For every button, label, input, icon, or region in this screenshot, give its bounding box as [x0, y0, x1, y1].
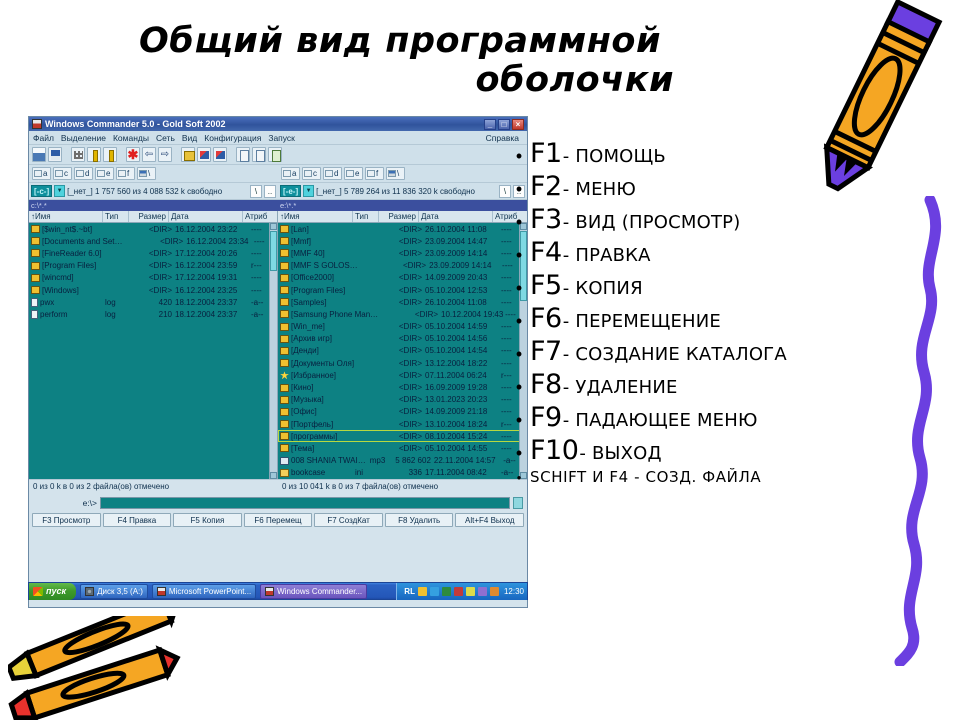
table-row[interactable]: bookcaseini33617.11.2004 08:42-a--: [278, 467, 527, 479]
file-icon: [31, 298, 38, 307]
fkey-list-item: •F1- помощь: [508, 138, 938, 169]
cell-name: [Documents and Settings]: [42, 237, 124, 246]
fkey-name: F5: [530, 270, 562, 301]
drive-button-d-right[interactable]: d: [323, 167, 342, 180]
crayon-pair-red-green: [8, 616, 198, 720]
drive-label: e: [106, 169, 110, 178]
hdd-icon: [97, 170, 105, 177]
drive-button-network-left[interactable]: \: [137, 167, 156, 180]
list-icon[interactable]: [48, 147, 62, 162]
fkey-description: - выход: [579, 443, 661, 464]
doc-green-icon[interactable]: [268, 147, 282, 162]
cell-name: [Samples]: [291, 298, 355, 307]
menu-item-start[interactable]: Запуск: [268, 133, 295, 143]
cell-size: <DIR>: [381, 395, 425, 404]
drive-label: \: [397, 169, 399, 178]
table-row[interactable]: [MMF 40]<DIR>23.09.2009 14:14----: [278, 247, 527, 259]
scrollbar-left[interactable]: [269, 223, 277, 479]
taskbar-item-wincmd[interactable]: Windows Commander...: [260, 584, 367, 599]
bullet-icon: •: [508, 279, 530, 297]
fkey-reference-list: •F1- помощь•F2- меню•F3- вид (просмотр)•…: [508, 138, 938, 488]
table-row[interactable]: [Офис]<DIR>14.09.2009 21:18----: [278, 406, 527, 418]
fkey-list-item: •F4- правка: [508, 237, 938, 268]
folder-icon: [31, 237, 40, 245]
folder-yellow-icon[interactable]: [181, 147, 195, 162]
scroll-up-arrow-left[interactable]: [270, 223, 277, 230]
cell-size: <DIR>: [131, 261, 175, 270]
file-pane-left[interactable]: ↑Имя Тип Размер Дата Атриб [$win_nt$.~bt…: [29, 211, 278, 479]
hdd-icon: [76, 170, 84, 177]
folder-icon: [31, 286, 40, 294]
ini-icon: [280, 469, 289, 477]
download-icon[interactable]: [430, 587, 439, 596]
restore-button[interactable]: □: [498, 119, 510, 130]
fkey-button-f3[interactable]: F3 Просмотр: [32, 513, 101, 527]
fkey-list-item: •F5- копия: [508, 270, 938, 301]
network-icon: [388, 170, 396, 177]
column-header-date[interactable]: Дата: [419, 211, 493, 222]
fkey-list-item: •F2- меню: [508, 171, 938, 202]
fkey-description: - копия: [563, 278, 643, 299]
menu-item-view[interactable]: Вид: [182, 133, 197, 143]
drive-label: f: [376, 169, 378, 178]
folder-icon: [31, 262, 40, 270]
table-row[interactable]: [wincmd]<DIR>17.12.2004 19:31----: [29, 272, 277, 284]
floppy-icon: [85, 587, 94, 596]
network-icon: [139, 170, 147, 177]
cell-date: 16.12.2004 23:25: [175, 286, 251, 295]
folder-icon: [31, 225, 40, 233]
cell-date: 07.11.2004 06:24: [425, 371, 501, 380]
cell-name: [Кино]: [291, 383, 355, 392]
menu-bar: Файл Выделение Команды Сеть Вид Конфигур…: [29, 131, 527, 145]
cell-date: 16.09.2009 19:28: [425, 383, 501, 392]
fkey-name: F4: [530, 237, 562, 268]
bullet-icon: •: [508, 213, 530, 231]
cell-date: 17.12.2004 20:26: [175, 249, 251, 258]
cell-size: <DIR>: [131, 273, 175, 282]
cell-name: [Портфель]: [291, 420, 355, 429]
table-row[interactable]: [Кино]<DIR>16.09.2009 19:28----: [278, 381, 527, 393]
drive-label: d: [334, 169, 338, 178]
title-line-1: Общий вид программной: [139, 21, 661, 61]
cell-name: [Program Files]: [291, 286, 355, 295]
drive-button-f-right[interactable]: f: [365, 167, 384, 180]
restore-icon: □: [502, 120, 507, 129]
toolbar-separator-3: [174, 147, 179, 162]
table-row[interactable]: [Mmf]<DIR>23.09.2004 14:47----: [278, 235, 527, 247]
bullet-icon: •: [508, 444, 530, 462]
cell-size: <DIR>: [381, 286, 425, 295]
root-button-left[interactable]: \: [250, 185, 262, 198]
chevron-down-icon-right[interactable]: ▼: [303, 185, 314, 197]
start-button-label: пуск: [46, 586, 66, 596]
table-row[interactable]: performlog21018.12.2004 23:37-a--: [29, 308, 277, 320]
table-row[interactable]: [Win_me]<DIR>05.10.2004 14:59----: [278, 321, 527, 333]
drive-button-c-right[interactable]: c: [302, 167, 321, 180]
cell-date: 16.12.2004 23:34: [186, 237, 254, 246]
table-row[interactable]: [Program Files]<DIR>16.12.2004 23:59r---: [29, 260, 277, 272]
drive-button-a-left[interactable]: a: [32, 167, 51, 180]
fkey-list-item: •F8- удаление: [508, 369, 938, 400]
table-row[interactable]: [Samsung Phone Manager v..]<DIR>10.12.20…: [278, 308, 527, 320]
floppy-icon: [34, 170, 42, 177]
file-list-left: [$win_nt$.~bt]<DIR>16.12.2004 23:22----[…: [29, 223, 277, 321]
column-header-size[interactable]: Размер: [379, 211, 419, 222]
bullet-icon: •: [508, 180, 530, 198]
file-list-right: [Lan]<DIR>26.10.2004 11:08----[Mmf]<DIR>…: [278, 223, 527, 479]
bullet-icon: •: [508, 246, 530, 264]
title-line-2: оболочки: [120, 61, 680, 100]
fkey-name: F7: [530, 336, 562, 367]
mp3-icon: [280, 457, 289, 465]
cell-name: [Офис]: [291, 407, 355, 416]
scroll-down-arrow-left[interactable]: [270, 472, 277, 479]
drive-label: e: [355, 169, 359, 178]
column-header-name[interactable]: ↑Имя: [278, 211, 353, 222]
cell-name: 008 SHANIA TWAIN - I..: [291, 456, 370, 465]
cell-date: 17.11.2004 08:42: [425, 468, 501, 477]
drive-free-left: [_нет_] 1 757 560 из 4 088 532 k свободн…: [67, 187, 248, 196]
menu-item-select[interactable]: Выделение: [61, 133, 106, 143]
cell-size: <DIR>: [381, 444, 425, 453]
menu-item-net[interactable]: Сеть: [156, 133, 175, 143]
fkey-description: - помощь: [563, 146, 666, 167]
cell-size: <DIR>: [403, 310, 441, 319]
drive-selector-left[interactable]: [-c-]: [31, 185, 52, 197]
cell-name: [Архив игр]: [291, 334, 355, 343]
cell-name: [Избранное]: [291, 371, 355, 380]
folder-icon: [280, 262, 289, 270]
wincmd-icon: [32, 119, 42, 129]
cell-size: <DIR>: [147, 237, 187, 246]
cell-date: 13.01.2023 20:23: [425, 395, 501, 404]
drive-buttons-left: a c d e f \: [29, 165, 278, 182]
cell-name: bookcase: [291, 468, 355, 477]
fkey-list-item: •F7- создание каталога: [508, 336, 938, 367]
minimize-button[interactable]: _: [484, 119, 496, 130]
table-row[interactable]: [Избранное]<DIR>07.11.2004 06:24r---: [278, 369, 527, 381]
doc-icon[interactable]: [236, 147, 250, 162]
toolbar-separator: [64, 147, 69, 162]
windows-commander-window: Windows Commander 5.0 - Gold Soft 2002 _…: [28, 116, 528, 608]
column-header-type[interactable]: Тип: [103, 211, 129, 222]
cd-icon: [118, 170, 126, 177]
cell-name: [Тема]: [291, 444, 355, 453]
bullet-icon: •: [508, 147, 530, 165]
menu-item-commands[interactable]: Команды: [113, 133, 149, 143]
table-row[interactable]: [Тема]<DIR>05.10.2004 14:55----: [278, 442, 527, 454]
bullet-icon: •: [508, 312, 530, 330]
fkey-description: - падающее меню: [563, 410, 758, 431]
folder-icon: [280, 237, 289, 245]
menu-item-config[interactable]: Конфигурация: [204, 133, 261, 143]
antivirus-icon[interactable]: [454, 587, 463, 596]
drive-selector-right[interactable]: [-e-]: [280, 185, 301, 197]
doc-edit-icon[interactable]: [252, 147, 266, 162]
powerpoint-icon: [157, 587, 166, 596]
cell-name: [программы]: [291, 432, 355, 441]
cell-name: pwx: [40, 298, 105, 307]
table-row[interactable]: [Портфель]<DIR>13.10.2004 18:24r---: [278, 418, 527, 430]
toolbar-separator-4: [229, 147, 234, 162]
table-row[interactable]: [Документы Оля]<DIR>13.12.2004 18:22----: [278, 357, 527, 369]
taskbar-item-powerpoint[interactable]: Microsoft PowerPoint...: [152, 584, 256, 599]
taskbar-item-label: Microsoft PowerPoint...: [169, 587, 251, 596]
fkey-button-f4[interactable]: F4 Правка: [103, 513, 172, 527]
multi-blue-icon[interactable]: [213, 147, 227, 162]
drive-label: d: [85, 169, 89, 178]
path-right[interactable]: e:\*.*: [278, 200, 527, 211]
cell-date: 16.12.2004 23:22: [175, 225, 251, 234]
table-row[interactable]: [Музыка]<DIR>13.01.2023 20:23----: [278, 394, 527, 406]
cell-date: 22.11.2004 14:57: [434, 456, 503, 465]
cell-name: [FineReader 6.0]: [42, 249, 105, 258]
fkey-list-item: •F9- падающее меню: [508, 402, 938, 433]
drive-free-right: [_нет_] 5 789 264 из 11 836 320 k свобод…: [316, 187, 497, 196]
drive-info-bar: [-c-] ▼ [_нет_] 1 757 560 из 4 088 532 k…: [29, 183, 527, 200]
hdd-icon: [325, 170, 333, 177]
cell-name: [Program Files]: [42, 261, 105, 270]
toolbar-separator-2: [119, 147, 124, 162]
shield-icon[interactable]: [442, 587, 451, 596]
fkey-button-f5[interactable]: F5 Копия: [173, 513, 242, 527]
toolbar: ✱ ⇦ ⇨: [29, 145, 527, 165]
fkey-name: F3: [530, 204, 562, 235]
folder-icon: [280, 408, 289, 416]
folder-icon: [280, 298, 289, 306]
star-icon[interactable]: ✱: [126, 147, 140, 162]
cell-date: 16.12.2004 23:59: [175, 261, 251, 270]
cell-name: [Документы Оля]: [291, 359, 355, 368]
column-header-size[interactable]: Размер: [129, 211, 169, 222]
cell-size: <DIR>: [381, 249, 425, 258]
drive-button-c-left[interactable]: c: [53, 167, 72, 180]
language-indicator[interactable]: RL: [404, 587, 415, 596]
drive-button-e-right[interactable]: e: [344, 167, 363, 180]
folder-icon: [280, 323, 289, 331]
folder-icon: [280, 359, 289, 367]
page-title: Общий вид программной оболочки: [120, 22, 680, 100]
cell-size: <DIR>: [381, 273, 425, 282]
floppy-icon: [283, 170, 291, 177]
cell-type: log: [105, 298, 131, 307]
fkey-name: F8: [530, 369, 562, 400]
cell-size: <DIR>: [131, 225, 175, 234]
fkey-name: F1: [530, 138, 562, 169]
up-button-left[interactable]: ..: [264, 185, 276, 198]
cell-size: <DIR>: [131, 249, 175, 258]
fkey-description: - перемещение: [563, 311, 721, 332]
drive-buttons-right: a c d e f \: [278, 165, 527, 182]
fkey-button-altf4[interactable]: Alt+F4 Выход: [455, 513, 524, 527]
network-icon[interactable]: [418, 587, 427, 596]
star-icon: [280, 371, 289, 379]
cell-size: <DIR>: [381, 359, 425, 368]
fkey-button-f8[interactable]: F8 Удалить: [385, 513, 454, 527]
cell-date: 05.10.2004 14:54: [425, 346, 501, 355]
table-row[interactable]: [Архив игр]<DIR>05.10.2004 14:56----: [278, 333, 527, 345]
bullet-icon: •: [508, 411, 530, 429]
cell-type: ini: [355, 468, 381, 477]
folder-icon: [280, 225, 289, 233]
table-row[interactable]: [Windows]<DIR>16.12.2004 23:25----: [29, 284, 277, 296]
cell-size: <DIR>: [381, 383, 425, 392]
cell-size: <DIR>: [381, 407, 425, 416]
folder-icon: [280, 444, 289, 452]
cell-size: <DIR>: [381, 237, 425, 246]
cell-date: 18.12.2004 23:37: [175, 298, 251, 307]
path-left[interactable]: c:\*.*: [29, 200, 278, 211]
folder-icon: [31, 249, 40, 257]
drive-button-d-left[interactable]: d: [74, 167, 93, 180]
taskbar-item-label: Диск 3,5 (A:): [97, 587, 143, 596]
folder-icon: [280, 335, 289, 343]
drive-button-f-left[interactable]: f: [116, 167, 135, 180]
drive-label: f: [127, 169, 129, 178]
command-prompt: e:\>: [83, 498, 97, 508]
cell-date: 23.09.2004 14:47: [425, 237, 501, 246]
fkey-description-last: schift и F4 - созд. файла: [530, 468, 761, 486]
table-row[interactable]: [Program Files]<DIR>05.10.2004 12:53----: [278, 284, 527, 296]
windows-flag-icon: [33, 587, 43, 596]
drive-info-left: [-c-] ▼ [_нет_] 1 757 560 из 4 088 532 k…: [29, 183, 278, 200]
table-row[interactable]: [FineReader 6.0]<DIR>17.12.2004 20:26---…: [29, 247, 277, 259]
table-row[interactable]: pwxlog42018.12.2004 23:37-a--: [29, 296, 277, 308]
drive-label: \: [148, 169, 150, 178]
column-header-type[interactable]: Тип: [353, 211, 379, 222]
drive-button-a-right[interactable]: a: [281, 167, 300, 180]
cell-date: 10.12.2004 19:43: [441, 310, 505, 319]
cell-size: <DIR>: [387, 261, 429, 270]
cell-date: 13.12.2004 18:22: [425, 359, 501, 368]
cell-date: 05.10.2004 12:53: [425, 286, 501, 295]
minimize-icon: _: [488, 120, 492, 129]
file-pane-right[interactable]: ↑Имя Тип Размер Дата Атриб [Lan]<DIR>26.…: [278, 211, 527, 479]
table-row[interactable]: [MMF S GOLOSOM]<DIR>23.09.2009 14:14----: [278, 260, 527, 272]
fkey-list-item: •F3- вид (просмотр): [508, 204, 938, 235]
table-row[interactable]: [$win_nt$.~bt]<DIR>16.12.2004 23:22----: [29, 223, 277, 235]
key-icon[interactable]: [87, 147, 101, 162]
fkey-list-item: •F6- перемещение: [508, 303, 938, 334]
taskbar-clock[interactable]: 12:30: [504, 587, 524, 596]
table-row[interactable]: [Lan]<DIR>26.10.2004 11:08----: [278, 223, 527, 235]
save-icon[interactable]: [32, 147, 46, 162]
cell-date: 05.10.2004 14:59: [425, 322, 501, 331]
menu-item-file[interactable]: Файл: [33, 133, 54, 143]
arrow-left-icon[interactable]: ⇦: [142, 147, 156, 162]
cell-size: <DIR>: [381, 334, 425, 343]
key2-icon[interactable]: [103, 147, 117, 162]
cell-name: [MMF 40]: [291, 249, 355, 258]
folder-icon: [280, 274, 289, 282]
cell-size: <DIR>: [381, 346, 425, 355]
drive-label: c: [64, 169, 68, 178]
fkey-button-f7[interactable]: F7 СоздКат: [314, 513, 383, 527]
scroll-thumb-left[interactable]: [270, 231, 277, 271]
fkey-list-item: •F10- выход: [508, 435, 938, 466]
folder-icon: [280, 249, 289, 257]
system-tray: RL 12:30: [396, 583, 527, 600]
close-button[interactable]: ×: [512, 119, 524, 130]
windows-taskbar: пуск Диск 3,5 (A:) Microsoft PowerPoint.…: [28, 582, 528, 600]
fkey-name: F6: [530, 303, 562, 334]
cell-size: 420: [131, 298, 175, 307]
cell-size: <DIR>: [131, 286, 175, 295]
cell-size: 336: [381, 468, 425, 477]
arrow-right-icon[interactable]: ⇨: [158, 147, 172, 162]
window-controls: _ □ ×: [484, 119, 526, 130]
cd-icon: [367, 170, 375, 177]
column-header-date[interactable]: Дата: [169, 211, 243, 222]
cell-date: 14.09.2009 21:18: [425, 407, 501, 416]
chevron-down-icon-left[interactable]: ▼: [54, 185, 65, 197]
palette-icon[interactable]: [478, 587, 487, 596]
multi-red-icon[interactable]: [197, 147, 211, 162]
cell-size: <DIR>: [381, 322, 425, 331]
cell-name: [Lan]: [291, 225, 355, 234]
taskbar-item-floppy[interactable]: Диск 3,5 (A:): [80, 584, 148, 599]
table-row[interactable]: [Documents and Settings]<DIR>16.12.2004 …: [29, 235, 277, 247]
grid-icon[interactable]: [71, 147, 85, 162]
pencil-icon[interactable]: [490, 587, 499, 596]
cell-name: [Samsung Phone Manager v..]: [291, 310, 382, 319]
column-headers-right: ↑Имя Тип Размер Дата Атриб: [278, 211, 527, 223]
table-row[interactable]: [Office2000]<DIR>14.09.2009 20:43----: [278, 272, 527, 284]
cell-size: 5 862 602: [393, 456, 433, 465]
drive-button-network-right[interactable]: \: [386, 167, 405, 180]
wincmd-icon: [265, 587, 274, 596]
table-row[interactable]: [Денди]<DIR>05.10.2004 14:54----: [278, 345, 527, 357]
path-bar: c:\*.* e:\*.*: [29, 200, 527, 211]
cell-date: 05.10.2004 14:56: [425, 334, 501, 343]
status-left: 0 из 0 k в 0 из 2 файла(ов) отмечено: [29, 479, 278, 494]
bullet-icon: •: [508, 378, 530, 396]
cell-size: <DIR>: [381, 225, 425, 234]
cell-name: [wincmd]: [42, 273, 105, 282]
volume-icon[interactable]: [466, 587, 475, 596]
close-icon: ×: [516, 120, 521, 129]
fkey-description: - создание каталога: [563, 344, 787, 365]
drive-button-e-left[interactable]: e: [95, 167, 114, 180]
cell-name: [Музыка]: [291, 395, 355, 404]
cell-size: <DIR>: [381, 298, 425, 307]
table-row[interactable]: [программы]<DIR>08.10.2004 15:24----: [278, 430, 527, 442]
command-input[interactable]: [100, 497, 510, 509]
cell-date: 23.09.2009 14:14: [425, 249, 501, 258]
command-history-chevron-icon[interactable]: [513, 497, 523, 509]
column-header-attr[interactable]: Атриб: [243, 211, 277, 222]
cell-name: [Win_me]: [291, 322, 355, 331]
fkey-button-f6[interactable]: F6 Перемещ: [244, 513, 313, 527]
table-row[interactable]: 008 SHANIA TWAIN - I..mp35 862 60222.11.…: [278, 455, 527, 467]
drive-info-right: [-e-] ▼ [_нет_] 5 789 264 из 11 836 320 …: [278, 183, 527, 200]
fkey-name: F9: [530, 402, 562, 433]
cell-name: [$win_nt$.~bt]: [42, 225, 105, 234]
table-row[interactable]: [Samples]<DIR>26.10.2004 11:08----: [278, 296, 527, 308]
drive-label: a: [43, 169, 47, 178]
drive-label: a: [292, 169, 296, 178]
cell-date: 05.10.2004 14:55: [425, 444, 501, 453]
cell-size: <DIR>: [381, 420, 425, 429]
fkey-description: - правка: [563, 245, 651, 266]
column-header-name[interactable]: ↑Имя: [29, 211, 103, 222]
window-title: Windows Commander 5.0 - Gold Soft 2002: [45, 119, 484, 129]
fkey-name: F10: [530, 435, 578, 466]
fkey-list-item-last: •schift и F4 - созд. файла: [508, 468, 938, 486]
start-button[interactable]: пуск: [29, 583, 76, 600]
folder-icon: [280, 347, 289, 355]
